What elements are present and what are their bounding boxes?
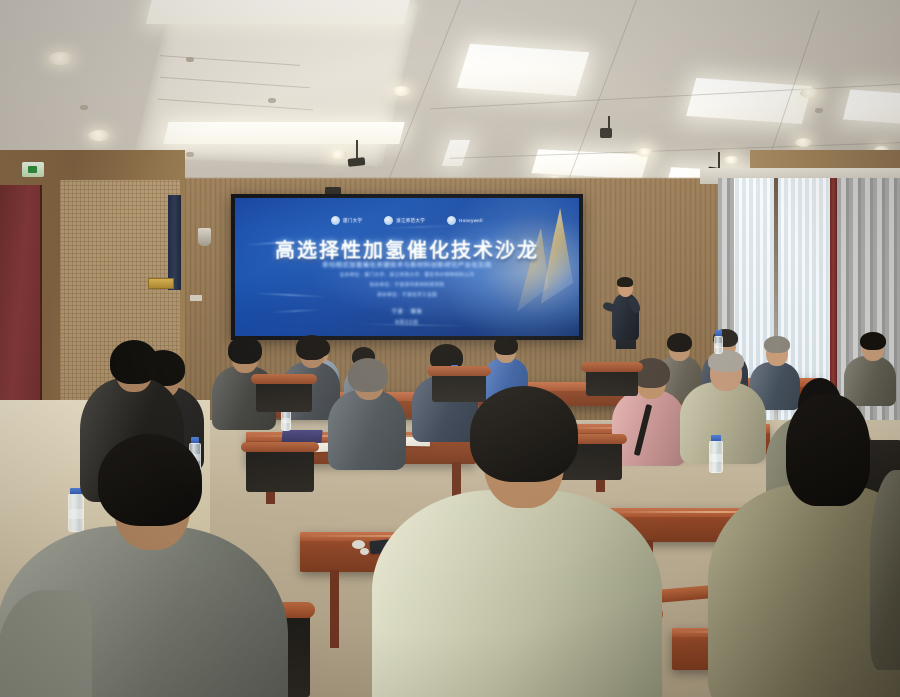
attendee-torso xyxy=(612,390,686,466)
desk-leg xyxy=(330,570,339,648)
led-strip-light xyxy=(163,122,404,144)
attendee-hair xyxy=(764,336,790,353)
attendee-arm xyxy=(0,590,92,697)
exit-sign-icon xyxy=(22,162,44,177)
ceiling-speaker-icon xyxy=(600,128,612,138)
wall-plaque xyxy=(148,278,174,289)
sprinkler-head-icon xyxy=(815,108,823,113)
slide-coorganizer-line: 协办单位：宁波清华新材料研究院 xyxy=(235,282,579,288)
downlight-icon xyxy=(637,148,653,157)
downlight-icon xyxy=(48,52,74,65)
led-display-bezel: 厦门大学 浙江师范大学 Honeywell 高选择性加氢催化技术沙龙 非均相式加… xyxy=(231,194,583,340)
sprinkler-head-icon xyxy=(186,152,194,157)
chair-frame xyxy=(251,374,317,384)
light-switch[interactable] xyxy=(190,295,202,301)
attendee-hair xyxy=(296,335,327,360)
attendee-hair xyxy=(860,332,886,350)
water-bottle[interactable] xyxy=(709,435,723,473)
sponsor-logo-label: Honeywell xyxy=(459,218,483,223)
sponsor-logo-label: 浙江师范大学 xyxy=(396,218,425,224)
corporate-logo-icon xyxy=(447,216,456,225)
sprinkler-head-icon xyxy=(186,57,194,62)
attendee-hair xyxy=(110,340,158,384)
sprinkler-head-icon xyxy=(268,98,276,103)
led-panel-light xyxy=(442,140,470,166)
water-bottle[interactable] xyxy=(68,488,84,532)
bottle-body xyxy=(714,336,723,354)
sponsor-logo: 厦门大学 xyxy=(331,216,362,225)
attendee-hair xyxy=(470,386,578,482)
sponsor-logo: 浙江师范大学 xyxy=(384,216,425,225)
university-crest-icon xyxy=(384,216,393,225)
attendee-hair xyxy=(348,358,388,392)
chair[interactable] xyxy=(256,380,312,412)
water-bottle[interactable] xyxy=(714,330,723,354)
bottle-body xyxy=(68,494,84,532)
slide-title: 高选择性加氢催化技术沙龙 xyxy=(235,234,579,263)
slide-date: 9月22日 xyxy=(235,319,579,326)
downlight-icon xyxy=(795,138,812,147)
led-strip-light xyxy=(146,0,412,24)
attendee-hair xyxy=(786,394,870,506)
attendee-torso xyxy=(844,356,896,406)
sponsor-logo: Honeywell xyxy=(447,216,483,225)
downlight-icon xyxy=(392,86,411,96)
slide-organizer-line: 主办单位：厦门大学、浙江师范大学、霍尼韦尔特种材料公司 xyxy=(235,272,579,278)
keyring[interactable] xyxy=(360,548,369,555)
led-panel-light xyxy=(843,90,900,125)
led-panel-light xyxy=(457,44,590,97)
attendee-hair xyxy=(494,336,518,355)
slide-subtitle: 非均相式加氢催化关键技术与新材料创新研究产业化实践 xyxy=(235,260,579,269)
attendee-torso xyxy=(372,490,662,697)
chair-frame xyxy=(581,362,643,372)
downlight-icon xyxy=(330,150,347,159)
downlight-icon xyxy=(800,88,820,98)
chair-frame xyxy=(241,442,319,452)
sprinkler-head-icon xyxy=(80,105,88,110)
university-crest-icon xyxy=(331,216,340,225)
bottle-body xyxy=(281,409,291,431)
chair-frame xyxy=(427,366,491,376)
led-display-screen[interactable]: 厦门大学 浙江师范大学 Honeywell 高选择性加氢催化技术沙龙 非均相式加… xyxy=(235,198,579,336)
sponsor-logo-row: 厦门大学 浙江师范大学 Honeywell xyxy=(235,216,579,225)
chair[interactable] xyxy=(586,368,638,396)
downlight-icon xyxy=(724,156,739,164)
presenter-hair xyxy=(617,277,633,287)
conference-room-photo: 厦门大学 浙江师范大学 Honeywell 高选择性加氢催化技术沙龙 非均相式加… xyxy=(0,0,900,697)
chair[interactable] xyxy=(246,448,314,492)
attendee-hair xyxy=(98,434,202,526)
sponsor-logo-label: 厦门大学 xyxy=(343,218,362,224)
attendee-hair xyxy=(667,333,692,352)
attendee-torso xyxy=(680,382,766,464)
bottle-body xyxy=(709,441,723,473)
chair[interactable] xyxy=(432,372,486,402)
attendee-torso xyxy=(328,390,406,470)
slide-location: 宁波 · 镇海 xyxy=(235,308,579,315)
wall-speaker-icon xyxy=(198,228,211,246)
attendee-hair xyxy=(228,336,262,364)
downlight-icon xyxy=(88,130,110,141)
wall-banner xyxy=(168,195,181,290)
slide-host-line: 承办单位：宁波化学工业园 xyxy=(235,292,579,298)
